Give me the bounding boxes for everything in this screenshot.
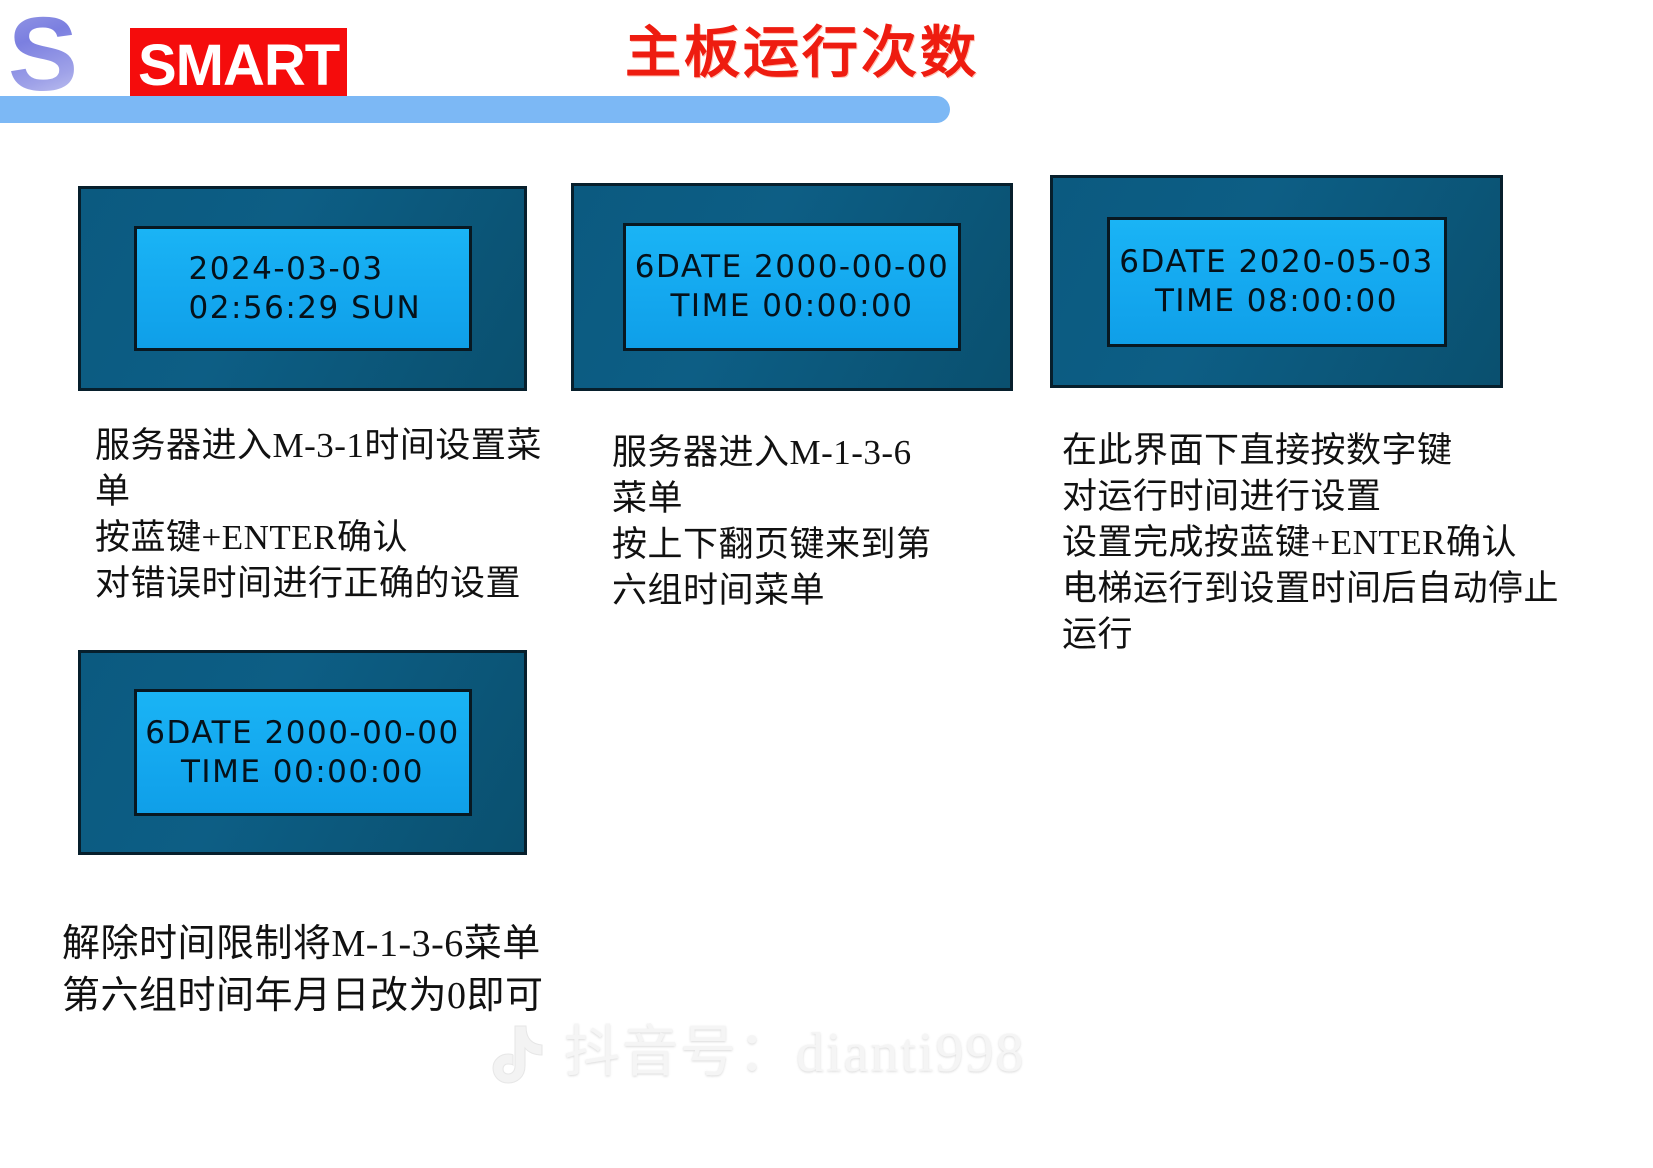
lcd-line-2: TIME 00:00:00 bbox=[671, 287, 914, 326]
header-accent-bar bbox=[0, 96, 950, 123]
lcd-screen: 6DATE 2000-00-00 TIME 00:00:00 bbox=[623, 223, 961, 351]
smart-brand-badge: SMART bbox=[130, 28, 347, 106]
caption-panel-3: 在此界面下直接按数字键 对运行时间进行设置 设置完成按蓝键+ENTER确认 电梯… bbox=[1062, 428, 1562, 658]
lcd-line-1: 2024-03-03 bbox=[189, 250, 384, 289]
page-header: S SMART 主板运行次数 bbox=[0, 0, 1653, 130]
lcd-line-1: 6DATE 2020-05-03 bbox=[1119, 243, 1433, 282]
page-title: 主板运行次数 bbox=[625, 22, 979, 86]
lcd-line-1: 6DATE 2000-00-00 bbox=[635, 248, 949, 287]
watermark-text: 抖音号：dianti998 bbox=[564, 1022, 1026, 1084]
lcd-line-2: TIME 08:00:00 bbox=[1155, 282, 1398, 321]
lcd-screen: 6DATE 2020-05-03 TIME 08:00:00 bbox=[1107, 217, 1447, 347]
lcd-line-2: TIME 00:00:00 bbox=[181, 753, 424, 792]
lcd-line-2: 02:56:29 SUN bbox=[189, 289, 422, 328]
lcd-line-1: 6DATE 2000-00-00 bbox=[145, 714, 459, 753]
caption-panel-4: 解除时间限制将M-1-3-6菜单 第六组时间年月日改为0即可 bbox=[62, 918, 622, 1022]
caption-panel-1: 服务器进入M-3-1时间设置菜单 按蓝键+ENTER确认 对错误时间进行正确的设… bbox=[95, 423, 565, 607]
lcd-panel-sixth-group-set: 6DATE 2020-05-03 TIME 08:00:00 bbox=[1050, 175, 1503, 388]
lcd-panel-sixth-group-cleared: 6DATE 2000-00-00 TIME 00:00:00 bbox=[78, 650, 527, 855]
caption-panel-2: 服务器进入M-1-3-6 菜单 按上下翻页键来到第 六组时间菜单 bbox=[612, 430, 1012, 614]
lcd-screen: 6DATE 2000-00-00 TIME 00:00:00 bbox=[134, 689, 472, 816]
douyin-note-icon bbox=[490, 1022, 546, 1084]
watermark: 抖音号：dianti998 bbox=[490, 1022, 1026, 1084]
lcd-panel-sixth-group-empty: 6DATE 2000-00-00 TIME 00:00:00 bbox=[571, 183, 1013, 391]
smart-logo-letter-icon: S bbox=[8, 2, 78, 107]
lcd-panel-time-display: 2024-03-03 02:56:29 SUN bbox=[78, 186, 527, 391]
lcd-screen: 2024-03-03 02:56:29 SUN bbox=[134, 226, 472, 351]
